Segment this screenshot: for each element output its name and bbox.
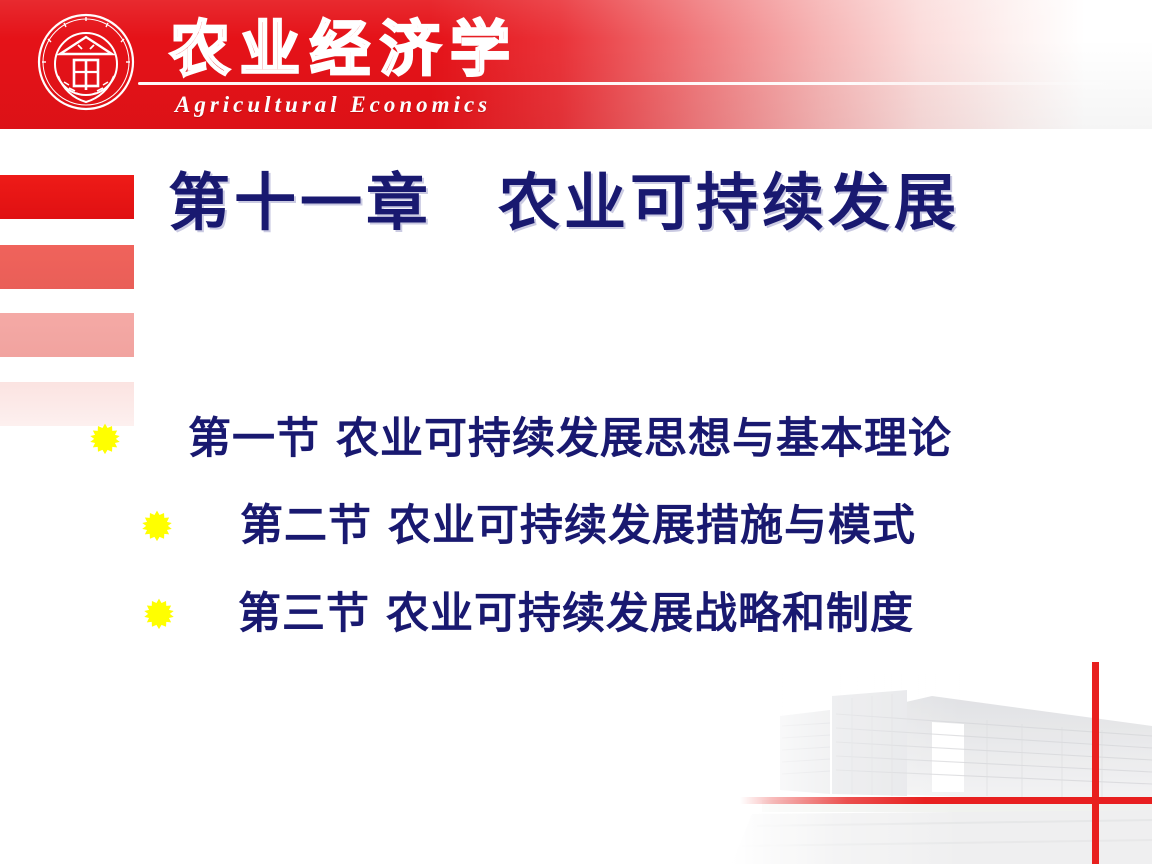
header-banner: 农业经济学 Agricultural Economics — [0, 0, 1152, 129]
star-bullet-icon — [88, 423, 122, 457]
decor-bar-3 — [0, 313, 134, 357]
section-item-3[interactable]: 第三节 农业可持续发展战略和制度 — [142, 593, 914, 636]
decor-bar-1 — [0, 175, 134, 219]
brand-english-title: Agricultural Economics — [175, 92, 491, 118]
section-item-2-label: 第二节 农业可持续发展措施与模式 — [240, 505, 916, 548]
decor-bar-2 — [0, 245, 134, 289]
brand-chinese-title-text: 农业经济学 — [170, 1, 520, 88]
section-item-3-label: 第三节 农业可持续发展战略和制度 — [238, 593, 914, 636]
decor-cross-horizontal — [740, 797, 1152, 804]
star-bullet-icon — [140, 510, 174, 544]
university-seal-icon — [36, 12, 136, 112]
section-item-2[interactable]: 第二节 农业可持续发展措施与模式 — [140, 505, 916, 548]
star-bullet-icon — [142, 598, 176, 632]
brand-chinese-title: 农业经济学 — [170, 8, 520, 80]
campus-building-watermark — [732, 674, 1152, 864]
section-item-1-label: 第一节 农业可持续发展思想与基本理论 — [188, 418, 952, 461]
decor-cross-vertical — [1092, 662, 1099, 864]
section-item-1[interactable]: 第一节 农业可持续发展思想与基本理论 — [88, 418, 952, 461]
slide-title: 第十一章 农业可持续发展 — [168, 152, 960, 242]
header-divider-line — [138, 82, 1128, 85]
slide-canvas: 农业经济学 Agricultural Economics 第十一章 农业可持续发… — [0, 0, 1152, 864]
